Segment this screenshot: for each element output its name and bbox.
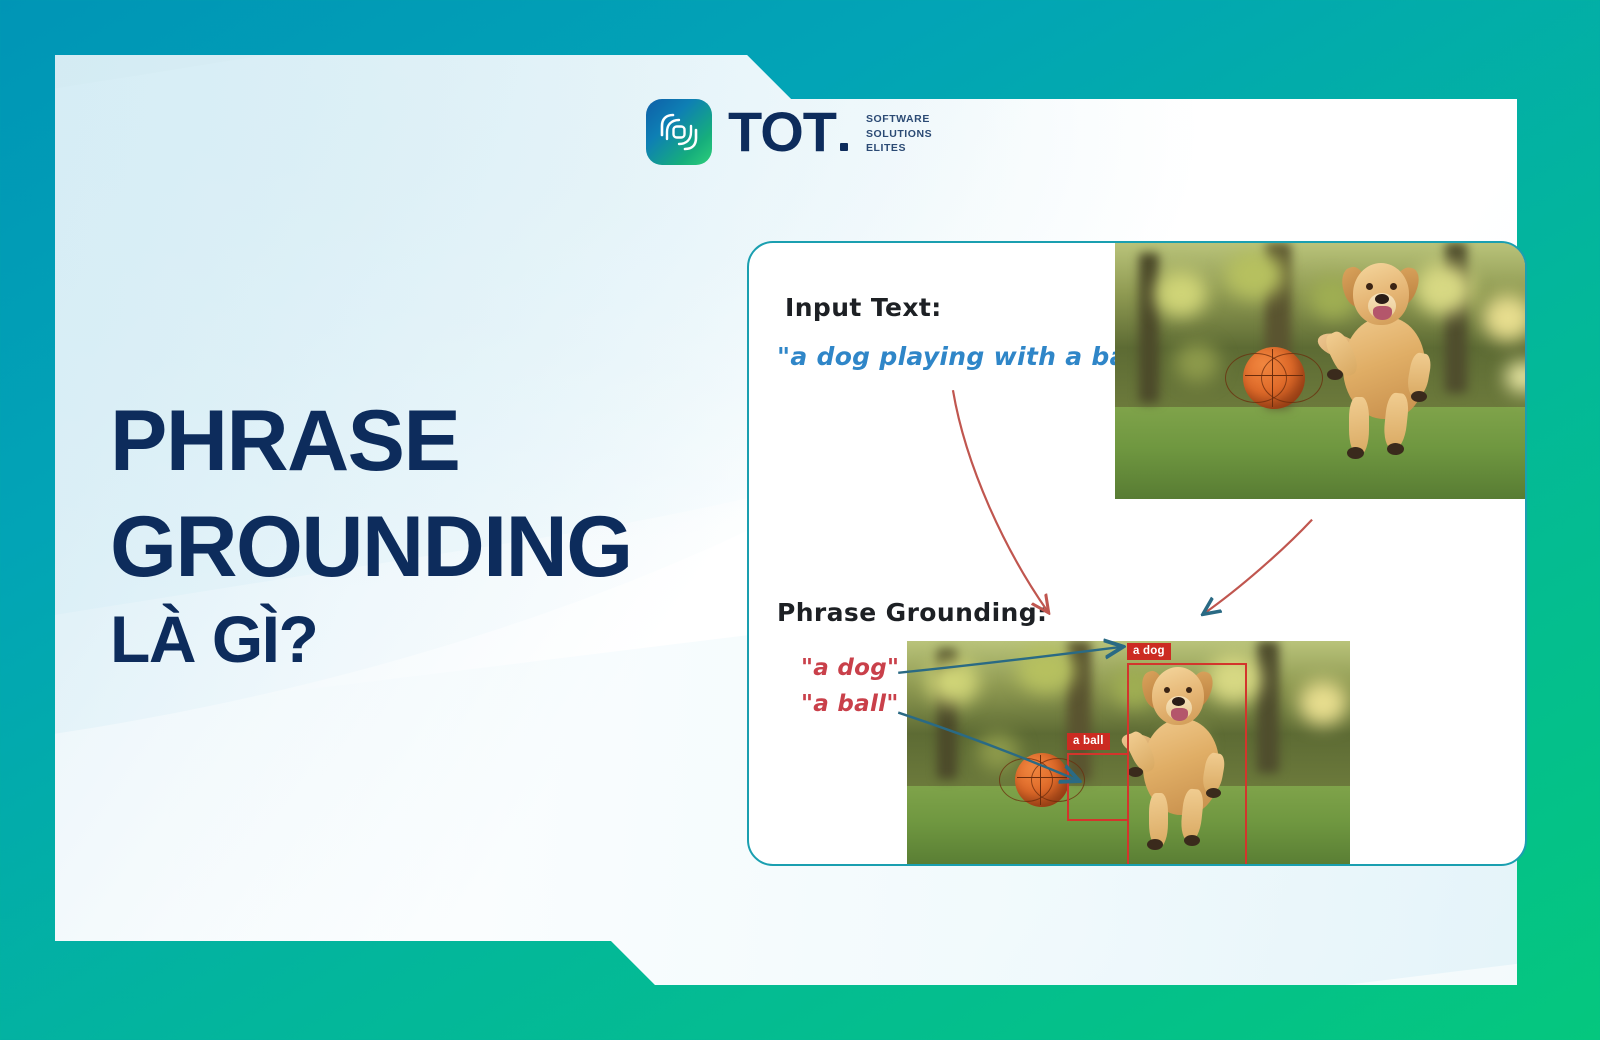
phrase-list: "a dog" "a ball" (801, 655, 899, 727)
phrase-grounding-label: Phrase Grounding: (777, 598, 1047, 627)
bounding-box-label-ball: a ball (1067, 733, 1110, 750)
input-text-label: Input Text: (785, 293, 942, 322)
bounding-box-ball (1067, 753, 1129, 821)
grass-ground (1115, 407, 1527, 499)
bounding-box-dog (1127, 663, 1247, 866)
scan-bracket-icon (657, 110, 701, 154)
tagline-line-1: SOFTWARE (866, 112, 932, 126)
title-line-1: PHRASE (110, 398, 720, 484)
title-line-3: LÀ GÌ? (110, 606, 720, 672)
brand-wordmark: TOT SOFTWARE SOLUTIONS ELITES (728, 106, 932, 158)
golden-retriever-dog (1323, 257, 1453, 467)
title-line-2: GROUNDING (110, 504, 720, 590)
phrase-item-dog: "a dog" (801, 655, 899, 681)
basketball (1015, 753, 1069, 807)
park-scene-annotated: a dog a ball (907, 641, 1350, 866)
brand-dot (840, 143, 848, 151)
park-scene (1115, 243, 1527, 499)
input-text-value: "a dog playing with a ball" (777, 342, 1158, 371)
phrase-item-ball: "a ball" (801, 691, 899, 717)
phrase-grounding-diagram: Input Text: "a dog playing with a ball" … (747, 241, 1527, 866)
arrow-image-to-grounding (1205, 520, 1312, 614)
brand-logo[interactable]: TOT SOFTWARE SOLUTIONS ELITES (646, 99, 932, 165)
page-frame: TOT SOFTWARE SOLUTIONS ELITES PHRASE GRO… (0, 0, 1600, 1040)
page-title: PHRASE GROUNDING LÀ GÌ? (110, 398, 720, 672)
basketball (1243, 347, 1305, 409)
tagline-line-3: ELITES (866, 141, 932, 155)
tagline-line-2: SOLUTIONS (866, 127, 932, 141)
brand-tagline: SOFTWARE SOLUTIONS ELITES (866, 112, 932, 155)
brand-name: TOT (728, 106, 836, 158)
arrow-text-to-grounding (953, 390, 1048, 611)
tot-scan-logo-icon (646, 99, 712, 165)
input-image-photo (1115, 243, 1527, 499)
grounded-output-photo: a dog a ball (907, 641, 1350, 866)
bounding-box-label-dog: a dog (1127, 643, 1171, 660)
